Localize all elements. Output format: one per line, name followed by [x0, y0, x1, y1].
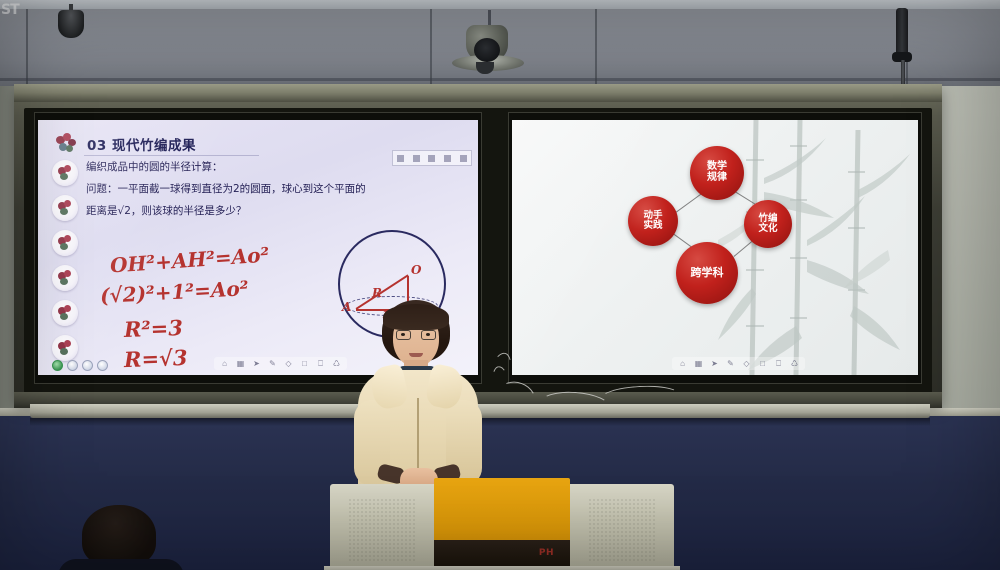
podium-display-text: PH [539, 548, 554, 558]
podium-speaker-right [570, 484, 674, 570]
mini-panel-icon[interactable] [397, 155, 404, 162]
teacher-hair-fringe [383, 304, 449, 330]
frame-icon[interactable]: ⎕ [774, 359, 783, 368]
ceiling-edge-line [0, 78, 1000, 81]
student-head [82, 505, 156, 567]
home-icon[interactable]: ⌂ [220, 359, 229, 368]
student [72, 505, 170, 570]
classroom-scene: 03 现代竹编成果 [0, 0, 1000, 570]
rose-bullet-icon [52, 160, 78, 186]
mini-panel-icon[interactable] [428, 155, 435, 162]
ceiling-seam [26, 9, 28, 86]
nav-dot-active[interactable] [52, 360, 63, 371]
right-slide: 数学 规律 动手 实践 竹编 文化 [512, 120, 918, 375]
cursor-icon[interactable]: ➤ [710, 359, 719, 368]
lectern: PH [330, 478, 674, 570]
shape-icon[interactable]: □ [758, 359, 767, 368]
node-label-line: 跨学科 [691, 267, 724, 279]
teacher-eye [401, 333, 405, 336]
mindmap-node-bamboo-culture[interactable]: 竹编 文化 [744, 200, 792, 248]
cursor-icon[interactable]: ➤ [252, 359, 261, 368]
ceiling-light-strip [0, 0, 1000, 9]
rose-bullet-icon [52, 335, 78, 361]
home-icon[interactable]: ⌂ [678, 359, 687, 368]
teacher-mouth [409, 353, 423, 357]
trash-icon[interactable]: ♺ [332, 359, 341, 368]
nav-dot[interactable] [67, 360, 78, 371]
mindmap-node-math-law[interactable]: 数学 规律 [690, 146, 744, 200]
slide-line: 距离是√2，则该球的半径是多少？ [86, 206, 468, 217]
eraser-icon[interactable]: ◇ [284, 359, 293, 368]
diagram-label-o: O [411, 263, 421, 277]
mini-panel-icon[interactable] [460, 155, 467, 162]
podium-speaker-left [330, 484, 434, 570]
title-underline [84, 155, 259, 156]
nav-dot[interactable] [82, 360, 93, 371]
bullet-decoration-column [50, 160, 84, 370]
node-label-line: 文化 [758, 224, 777, 234]
student-shoulders [58, 559, 184, 570]
pen-icon[interactable]: ✎ [726, 359, 735, 368]
rose-bullet-icon [52, 265, 78, 291]
rose-bullet-icon [52, 230, 78, 256]
teacher [352, 300, 484, 500]
right-screen-toolbar[interactable]: ⌂ ▦ ➤ ✎ ◇ □ ⎕ ♺ [672, 357, 805, 370]
eraser-icon[interactable]: ◇ [742, 359, 751, 368]
slide-nav-dots[interactable] [52, 360, 108, 371]
rose-bullet-icon [52, 195, 78, 221]
mindmap-node-interdisciplinary[interactable]: 跨学科 [676, 242, 738, 304]
right-screen[interactable]: 数学 规律 动手 实践 竹编 文化 [512, 120, 918, 375]
podium-base [324, 566, 680, 570]
left-screen-toolbar[interactable]: ⌂ ▦ ➤ ✎ ◇ □ ⎕ ♺ [214, 357, 347, 370]
mini-panel-icon[interactable] [444, 155, 451, 162]
slide-mini-panel[interactable] [392, 150, 472, 166]
watermark-logo: ST [0, 0, 34, 20]
diagram-label-r: R [372, 286, 382, 300]
mini-panel-icon[interactable] [413, 155, 420, 162]
slide-line: 问题：一平面截一球得到直径为2的圆面，球心到这个平面的 [86, 184, 468, 195]
slide-body-text: 编织成品中的圆的半径计算： 问题：一平面截一球得到直径为2的圆面，球心到这个平面… [86, 162, 468, 228]
handwritten-equation: (√2)²+1²=Ao² [99, 276, 249, 308]
flower-decoration-icon [54, 132, 80, 156]
handwritten-equation: OH²+AH²=Ao² [109, 242, 270, 277]
node-label-line: 规律 [707, 173, 727, 184]
node-label-line: 实践 [643, 221, 662, 231]
whiteboard-cabinet-top [14, 84, 942, 102]
slide-title-row: 03 现代竹编成果 [54, 132, 196, 156]
mindmap-node-hands-on[interactable]: 动手 实践 [628, 196, 678, 246]
ceiling-seam [430, 9, 432, 86]
slide-title: 03 现代竹编成果 [87, 134, 196, 154]
mindmap-diagram: 数学 规律 动手 实践 竹编 文化 [622, 138, 802, 318]
shape-icon[interactable]: □ [300, 359, 309, 368]
grid-icon[interactable]: ▦ [694, 359, 703, 368]
grid-icon[interactable]: ▦ [236, 359, 245, 368]
rose-bullet-icon [52, 300, 78, 326]
frame-icon[interactable]: ⎕ [316, 359, 325, 368]
handwritten-equation: R²=3 [124, 315, 184, 342]
ceiling-spotlight-icon [58, 10, 84, 38]
camera-lens-icon [474, 38, 500, 62]
pen-icon[interactable]: ✎ [268, 359, 277, 368]
trash-icon[interactable]: ♺ [790, 359, 799, 368]
ceiling-seam [595, 9, 597, 86]
nav-dot[interactable] [97, 360, 108, 371]
diagram-label-a: A [342, 300, 351, 314]
handwritten-equation: R=√3 [124, 345, 188, 372]
teacher-eye [426, 333, 430, 336]
